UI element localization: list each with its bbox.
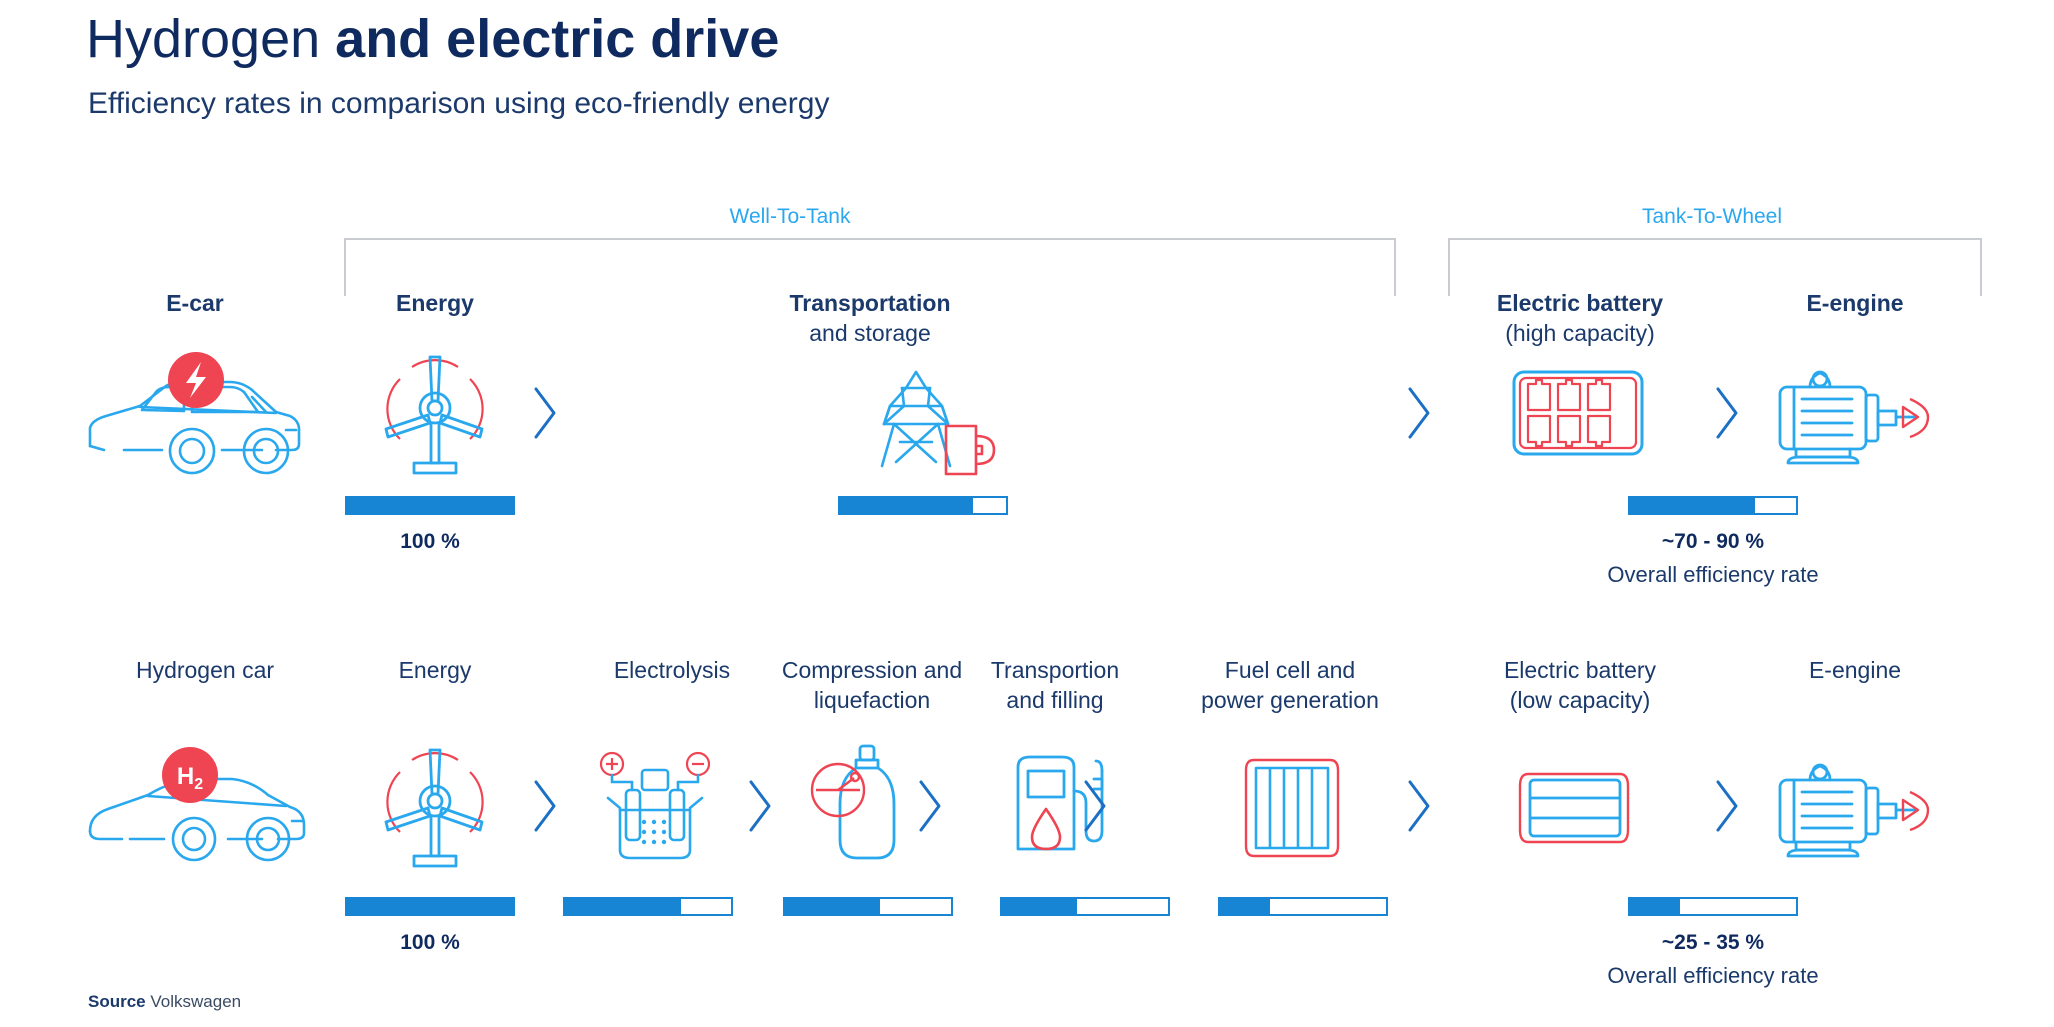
hydrogen-car-icon: H2 [82,745,312,870]
chevron-right-icon [1404,385,1434,441]
wind-turbine-icon [370,738,500,873]
chevron-right-icon [1712,778,1742,834]
bar-fuel-cell [1218,897,1388,916]
step-label-energy-row2: Energy [345,655,525,685]
electric-car-icon [80,350,310,485]
bar-transportation-row1 [838,496,1008,515]
overall-caption-row2: Overall efficiency rate [1563,963,1863,989]
chevron-right-icon [745,778,775,834]
bar-overall-row1 [1628,496,1798,515]
source-name: Volkswagen [150,992,241,1011]
bar-transportion [1000,897,1170,916]
chevron-right-icon [1712,385,1742,441]
step-label-electric-battery-row2: Electric battery (low capacity) [1455,655,1705,715]
overall-caption-row1: Overall efficiency rate [1563,562,1863,588]
step-label-e-car: E-car [95,288,295,318]
battery-low-capacity-icon [1508,760,1648,860]
step-sublabel-transportion: and filling [940,685,1170,715]
step-sublabel-transportation: and storage [740,318,1000,348]
source-line: Source Volkswagen [88,992,241,1012]
step-transportation-row1: Transportation and storage [740,288,1000,348]
step-label-energy: Energy [345,288,525,318]
electric-motor-icon [1770,748,1940,868]
step-label-electric-battery: Electric battery (high capacity) [1455,288,1705,348]
step-sublabel-electric-battery: (high capacity) [1455,318,1705,348]
step-label-transportion: Transportion and filling [940,655,1170,715]
step-energy-row1: Energy [345,288,525,318]
phase-label-tank-to-wheel: Tank-To-Wheel [1612,205,1812,229]
step-electric-battery-row2: Electric battery (low capacity) [1455,655,1705,715]
page-subtitle: Efficiency rates in comparison using eco… [88,85,829,123]
bar-energy-row2 [345,897,515,916]
bar-overall-row2 [1628,897,1798,916]
power-pylon-icon [870,350,1010,480]
step-label-hydrogen-car: Hydrogen car [95,655,315,685]
wind-turbine-icon [370,345,500,480]
fuel-cell-icon [1232,748,1352,868]
step-energy-row2: Energy [345,655,525,685]
step-e-car: E-car [95,288,295,318]
battery-high-capacity-icon [1508,358,1648,468]
electrolysis-icon [598,748,718,868]
chevron-right-icon [1404,778,1434,834]
source-label: Source [88,992,146,1011]
overall-value-row2: ~25 - 35 % [1628,931,1798,955]
bar-electrolysis [563,897,733,916]
bar-energy-row1 [345,496,515,515]
step-sublabel-fuel-cell: power generation [1150,685,1430,715]
step-electric-battery-row1: Electric battery (high capacity) [1455,288,1705,348]
step-fuel-cell: Fuel cell and power generation [1150,655,1430,715]
step-hydrogen-car: Hydrogen car [95,655,315,685]
overall-value-row1: ~70 - 90 % [1628,530,1798,554]
step-label-fuel-cell: Fuel cell and power generation [1150,655,1430,715]
step-label-e-engine: E-engine [1760,288,1950,318]
step-e-engine-row2: E-engine [1760,655,1950,685]
chevron-right-icon [915,778,945,834]
bar-compression [783,897,953,916]
chevron-right-icon [530,778,560,834]
pct-energy-row1: 100 % [345,530,515,554]
chevron-right-icon [1080,778,1110,834]
chevron-right-icon [530,385,560,441]
pct-energy-row2: 100 % [345,931,515,955]
page-title: Hydrogen and electric drive [86,6,779,72]
step-e-engine-row1: E-engine [1760,288,1950,318]
step-label-e-engine-row2: E-engine [1760,655,1950,685]
infographic-root: Hydrogen and electric drive Efficiency r… [0,0,2054,1027]
step-transportion: Transportion and filling [940,655,1170,715]
phase-label-well-to-tank: Well-To-Tank [690,205,890,229]
step-label-transportation: Transportation and storage [740,288,1000,348]
title-bold: and electric drive [335,9,779,69]
step-sublabel-electric-battery-row2: (low capacity) [1455,685,1705,715]
title-light: Hydrogen [86,9,335,69]
electric-motor-icon [1770,355,1940,475]
